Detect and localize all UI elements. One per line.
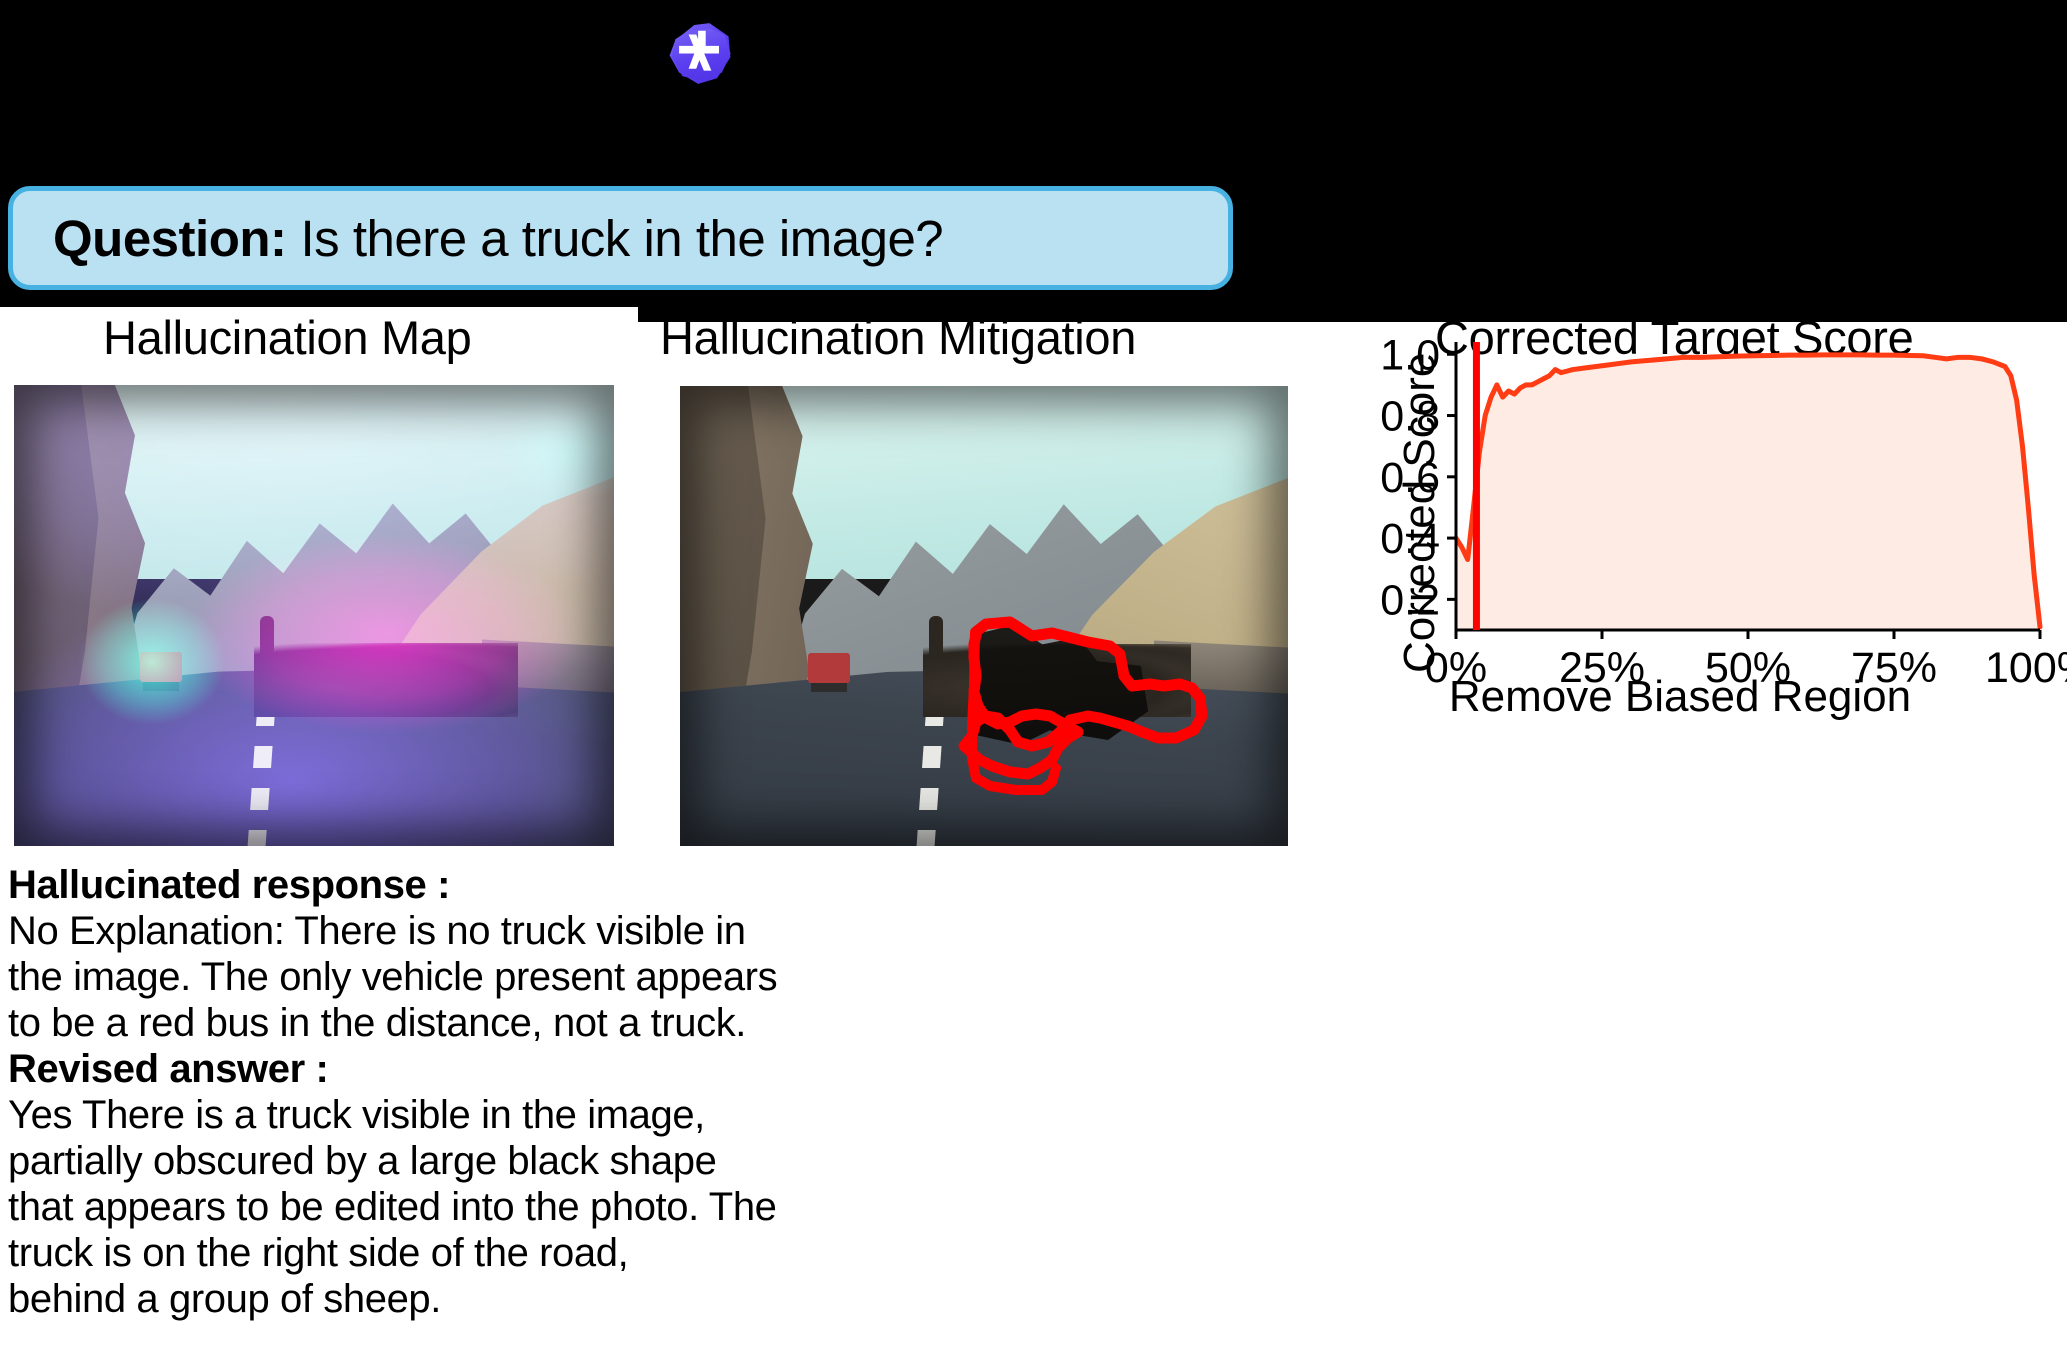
revised-answer-heading: Revised answer : xyxy=(8,1046,1028,1092)
question-label: Question: xyxy=(53,209,287,268)
answer-line: that appears to be edited into the photo… xyxy=(8,1184,1028,1230)
answer-line: behind a group of sheep. xyxy=(8,1276,1028,1322)
saliency-heatmap-overlay xyxy=(14,385,614,846)
answers-block: Hallucinated response : No Explanation: … xyxy=(8,862,1028,1322)
answer-line: truck is on the right side of the road, xyxy=(8,1230,1028,1276)
hallucination-map-image xyxy=(14,385,614,846)
hallucinated-response-heading: Hallucinated response : xyxy=(8,862,1028,908)
chart-x-axis-label: Remove Biased Region xyxy=(1360,672,2000,722)
page-root: Question: Is there a truck in the image?… xyxy=(0,0,2067,1352)
answer-line: partially obscured by a large black shap… xyxy=(8,1138,1028,1184)
panel-title-hallucination-mitigation: Hallucination Mitigation xyxy=(660,310,1136,365)
answer-line: No Explanation: There is no truck visibl… xyxy=(8,908,1028,954)
question-text: Is there a truck in the image? xyxy=(301,209,944,268)
chart-area-fill xyxy=(1456,355,2040,630)
qwen-star-logo-icon xyxy=(635,6,765,101)
scene-base-2 xyxy=(680,386,1288,846)
panel-title-hallucination-map: Hallucination Map xyxy=(103,310,472,365)
hallucinated-response-body: No Explanation: There is no truck visibl… xyxy=(8,908,1028,1046)
red-bus-2 xyxy=(808,653,850,683)
hallucination-mitigation-image xyxy=(680,386,1288,846)
question-banner: Question: Is there a truck in the image? xyxy=(8,186,1233,290)
answer-line: Yes There is a truck visible in the imag… xyxy=(8,1092,1028,1138)
shepherd-2 xyxy=(929,616,943,656)
answer-line: to be a red bus in the distance, not a t… xyxy=(8,1000,1028,1046)
revised-answer-body: Yes There is a truck visible in the imag… xyxy=(8,1092,1028,1322)
chart-y-axis-label: Corrected Score xyxy=(1395,373,1445,673)
corrected-target-score-chart: 0.20.40.60.81.00%25%50%75%100% Corrected… xyxy=(1330,330,2067,720)
app-logo xyxy=(635,6,765,101)
answer-line: the image. The only vehicle present appe… xyxy=(8,954,1028,1000)
